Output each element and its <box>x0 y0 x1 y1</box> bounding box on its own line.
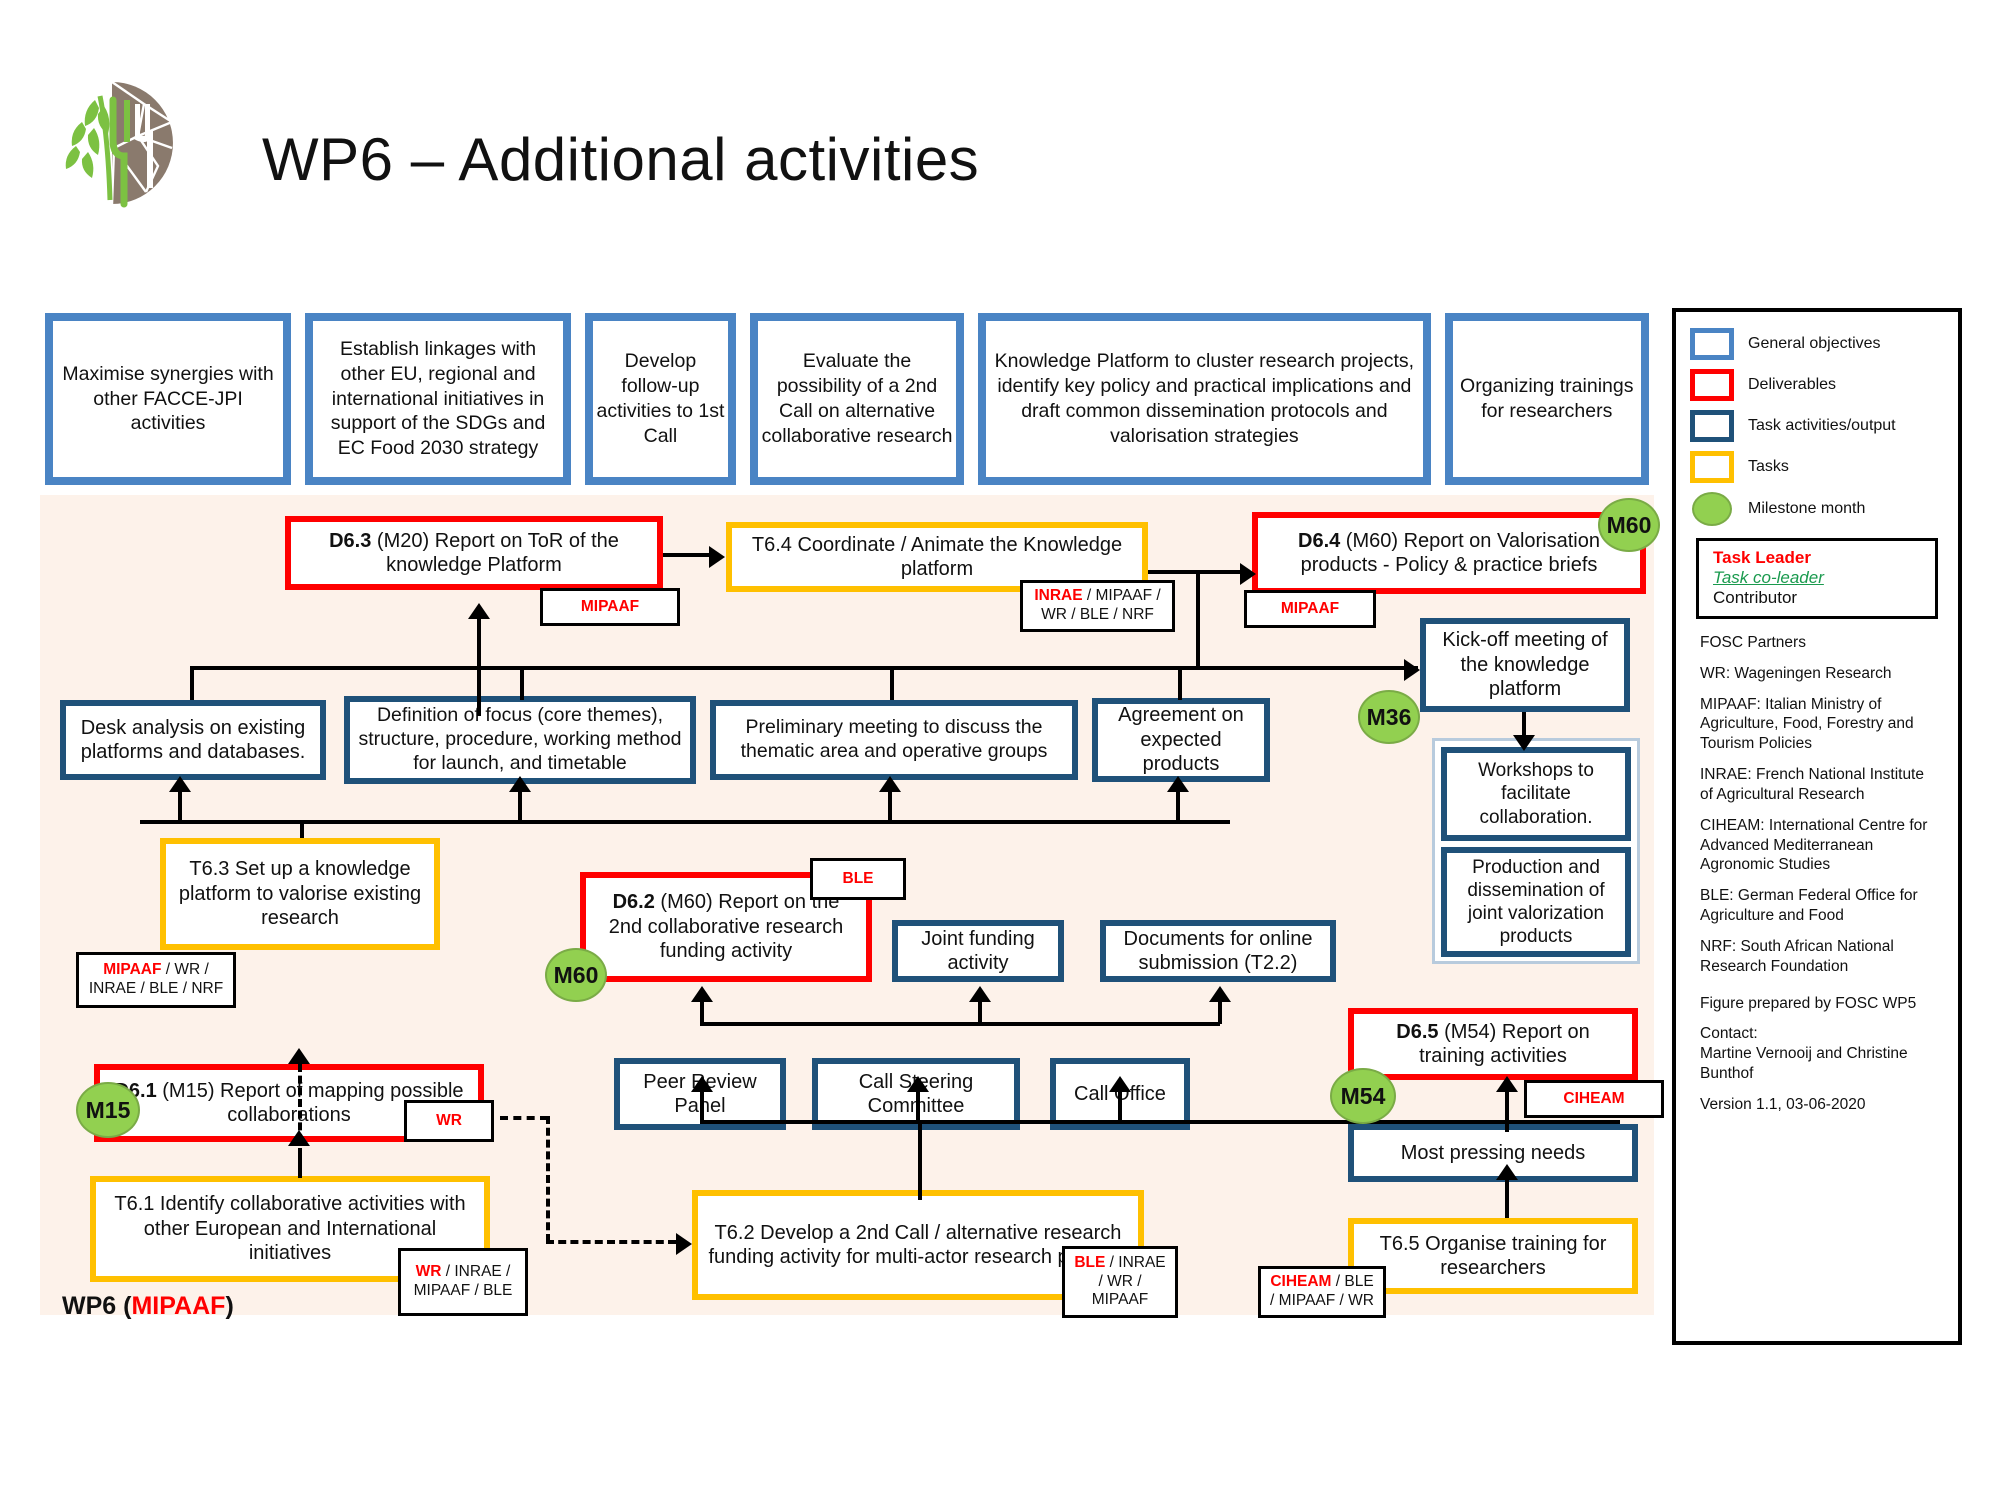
node-kickoff[interactable]: Kick-off meeting of the knowledge platfo… <box>1420 618 1630 712</box>
tag-d61: WR <box>404 1100 494 1142</box>
partners-list: FOSC Partners WR: Wageningen Research MI… <box>1690 633 1944 977</box>
connector-needs-d65 <box>1505 1090 1509 1132</box>
node-most-pressing-needs[interactable]: Most pressing needs <box>1348 1124 1638 1182</box>
diagram-canvas: WP6 – Additional activities Maximise syn… <box>0 0 2000 1500</box>
tag-d63: MIPAAF <box>540 588 680 626</box>
partner-wr: WR: Wageningen Research <box>1700 664 1940 684</box>
arrowhead-bus-definition <box>509 776 531 792</box>
legend-panel: General objectives Deliverables Task act… <box>1672 308 1962 1345</box>
connector-t61-d61 <box>298 1148 302 1178</box>
connector-upper-docs <box>1218 1000 1222 1024</box>
connector-bus-peer <box>700 1090 704 1122</box>
legend-label-objectives: General objectives <box>1748 335 1881 353</box>
legend-row-objectives: General objectives <box>1690 328 1944 360</box>
connector-bus-definition <box>520 666 524 700</box>
arrowhead-bus-d63 <box>468 603 490 619</box>
activities-bus-horizontal <box>190 666 1200 670</box>
tag-d62: BLE <box>810 858 906 900</box>
milestone-m60-mid: M60 <box>545 948 607 1002</box>
legend-swatch-objectives-icon <box>1690 328 1734 360</box>
connector-bus-desk <box>190 666 194 700</box>
tag-t64: INRAE / MIPAAF / WR / BLE / NRF <box>1020 580 1175 632</box>
partner-ciheam: CIHEAM: International Centre for Advance… <box>1700 816 1940 875</box>
tag-d65: CIHEAM <box>1524 1080 1664 1118</box>
facce-jpi-fosc-logo-icon <box>40 70 185 215</box>
milestone-m54: M54 <box>1330 1068 1396 1124</box>
wp6-footer-label: WP6 (MIPAAF) <box>62 1292 234 1321</box>
tag-t61-lead: WR <box>416 1263 442 1280</box>
node-d63[interactable]: D6.3 (M20) Report on ToR of the knowledg… <box>285 516 663 590</box>
tag-d64: MIPAAF <box>1244 590 1376 628</box>
call-bus-upper <box>700 1022 1220 1026</box>
milestone-m15: M15 <box>76 1082 140 1138</box>
connector-t62-up <box>918 1120 922 1200</box>
connector-t64-d64 <box>1148 570 1240 574</box>
node-d64-rest: (M60) Report on Valorisation products - … <box>1301 530 1600 576</box>
legend-swatch-milestone-icon <box>1692 492 1732 526</box>
connector-bus-calloffice <box>1118 1090 1122 1122</box>
tag-t63: MIPAAF / WR / INRAE / BLE / NRF <box>76 952 236 1008</box>
legend-label-deliverables: Deliverables <box>1748 376 1836 394</box>
tag-t63-lead: MIPAAF <box>103 961 161 978</box>
connector-bus-prelim <box>890 666 894 700</box>
role-contributor: Contributor <box>1713 588 1925 608</box>
node-d63-rest: (M20) Report on ToR of the knowledge Pla… <box>371 530 619 576</box>
objective-box-5[interactable]: Knowledge Platform to cluster research p… <box>973 308 1435 490</box>
connector-bus-to-d63 <box>477 668 481 716</box>
connector-d61-to-t62-dashed <box>546 1240 676 1244</box>
arrowhead-t64-d64 <box>1240 563 1256 585</box>
roles-legend-box: Task Leader Task co-leader Contributor <box>1696 538 1938 619</box>
legend-row-milestone: Milestone month <box>1690 492 1944 526</box>
wp6-partner: MIPAAF <box>131 1292 225 1320</box>
tag-d61-lead: WR <box>436 1112 462 1129</box>
milestone-m60-top: M60 <box>1598 498 1660 552</box>
tag-t65-lead: CIHEAM <box>1270 1273 1331 1290</box>
arrowhead-bus-kickoff <box>1404 659 1420 681</box>
connector-bus-up-prelim <box>888 790 892 822</box>
connector-bus-up-desk <box>178 790 182 822</box>
partners-heading: FOSC Partners <box>1700 633 1940 653</box>
connector-bus-to-kickoff <box>1196 666 1418 670</box>
legend-label-tasks: Tasks <box>1748 458 1789 476</box>
arrowhead-bus-calloffice <box>1109 1076 1131 1092</box>
tag-d65-lead: CIHEAM <box>1563 1090 1624 1107</box>
arrowhead-bus-prelim <box>879 776 901 792</box>
node-workshops[interactable]: Workshops to facilitate collaboration. <box>1441 747 1631 841</box>
role-task-coleader: Task co-leader <box>1713 568 1925 588</box>
connector-d61-right-dashed <box>500 1116 548 1120</box>
node-agreement-products[interactable]: Agreement on expected products <box>1092 698 1270 782</box>
node-t65[interactable]: T6.5 Organise training for researchers <box>1348 1218 1638 1294</box>
partner-mipaaf: MIPAAF: Italian Ministry of Agriculture,… <box>1700 695 1940 754</box>
partner-ble: BLE: German Federal Office for Agricultu… <box>1700 886 1940 926</box>
connector-t63-bus <box>300 820 304 838</box>
node-d62-code: D6.2 <box>613 891 655 913</box>
call-bus-horizontal <box>700 1120 1620 1124</box>
objective-box-1[interactable]: Maximise synergies with other FACCE-JPI … <box>40 308 296 490</box>
wp6-prefix: WP6 ( <box>62 1292 131 1320</box>
node-d65[interactable]: D6.5 (M54) Report on training activities <box>1348 1008 1638 1080</box>
arrowhead-d63-t64 <box>709 546 725 568</box>
legend-row-activities: Task activities/output <box>1690 410 1944 442</box>
tag-d62-lead: BLE <box>843 870 874 887</box>
contact-names: Martine Vernooij and Christine Bunthof <box>1700 1045 1908 1082</box>
role-task-leader: Task Leader <box>1713 548 1925 568</box>
objective-box-4[interactable]: Evaluate the possibility of a 2nd Call o… <box>745 308 969 490</box>
connector-d63-t64 <box>663 553 709 557</box>
arrowhead-upper-joint <box>969 986 991 1002</box>
arrowhead-bus-steering <box>907 1076 929 1092</box>
node-d65-code: D6.5 <box>1396 1021 1438 1043</box>
arrowhead-upper-docs <box>1209 986 1231 1002</box>
node-documents-online[interactable]: Documents for online submission (T2.2) <box>1100 920 1336 982</box>
node-production[interactable]: Production and dissemination of joint va… <box>1441 847 1631 957</box>
connector-bus-to-d63-stem <box>477 615 481 670</box>
legend-swatch-deliverables-icon <box>1690 369 1734 401</box>
connector-d61-down-dashed <box>546 1116 550 1242</box>
tag-t61: WR / INRAE / MIPAAF / BLE <box>398 1248 528 1316</box>
prepared-by: Figure prepared by FOSC WP5 <box>1700 994 1940 1014</box>
arrowhead-upper-d62 <box>691 986 713 1002</box>
node-definition-of-focus[interactable]: Definition of focus (core themes), struc… <box>344 696 696 784</box>
partner-nrf: NRF: South African National Research Fou… <box>1700 937 1940 977</box>
node-desk-analysis[interactable]: Desk analysis on existing platforms and … <box>60 700 326 780</box>
connector-bus-steering <box>916 1090 920 1122</box>
wp6-suffix: ) <box>225 1292 233 1320</box>
arrowhead-bus-desk <box>169 776 191 792</box>
node-joint-funding[interactable]: Joint funding activity <box>892 920 1064 982</box>
legend-label-activities: Task activities/output <box>1748 417 1896 435</box>
connector-bus-to-d64 <box>1196 570 1200 670</box>
contact-label: Contact: <box>1700 1025 1758 1042</box>
milestone-m36: M36 <box>1358 690 1420 744</box>
version-text: Version 1.1, 03-06-2020 <box>1700 1095 1940 1115</box>
arrowhead-bus-agreement <box>1167 776 1189 792</box>
node-d63-code: D6.3 <box>329 530 371 552</box>
arrowhead-t65-needs <box>1496 1164 1518 1180</box>
connector-bus-up-definition <box>518 790 522 822</box>
page-title: WP6 – Additional activities <box>262 125 979 194</box>
objective-box-2[interactable]: Establish linkages with other EU, region… <box>300 308 576 490</box>
node-d64[interactable]: D6.4 (M60) Report on Valorisation produc… <box>1252 512 1646 594</box>
node-t63[interactable]: T6.3 Set up a knowledge platform to valo… <box>160 838 440 950</box>
objective-box-6[interactable]: Organizing trainings for researchers <box>1440 308 1654 490</box>
connector-upper-d62 <box>700 1000 704 1024</box>
arrowhead-d61-t63 <box>288 1048 310 1064</box>
partner-inrae: INRAE: French National Institute of Agri… <box>1700 765 1940 805</box>
tag-t65: CIHEAM / BLE / MIPAAF / WR <box>1258 1266 1386 1318</box>
arrowhead-kickoff-workshops <box>1513 735 1535 751</box>
contact-block: Contact: Martine Vernooij and Christine … <box>1700 1024 1940 1083</box>
tag-d63-lead: MIPAAF <box>581 598 639 615</box>
legend-row-deliverables: Deliverables <box>1690 369 1944 401</box>
node-d65-rest: (M54) Report on training activities <box>1419 1021 1590 1067</box>
tag-t62: BLE / INRAE / WR / MIPAAF <box>1062 1246 1178 1318</box>
arrowhead-needs-d65 <box>1496 1076 1518 1092</box>
connector-bus-up-agreement <box>1176 790 1180 822</box>
tag-d64-lead: MIPAAF <box>1281 600 1339 617</box>
figure-metadata: Figure prepared by FOSC WP5 Contact: Mar… <box>1690 988 1944 1115</box>
connector-upper-joint <box>978 1000 982 1024</box>
nested-activities-container: Workshops to facilitate collaboration. P… <box>1432 738 1640 964</box>
tag-t64-lead: INRAE <box>1034 587 1082 604</box>
node-d64-code: D6.4 <box>1298 530 1340 552</box>
objective-box-3[interactable]: Develop follow-up activities to 1st Call <box>580 308 741 490</box>
legend-swatch-tasks-icon <box>1690 451 1734 483</box>
node-preliminary-meeting[interactable]: Preliminary meeting to discuss the thema… <box>710 700 1078 780</box>
legend-row-tasks: Tasks <box>1690 451 1944 483</box>
general-objectives-strip: Maximise synergies with other FACCE-JPI … <box>40 308 1654 490</box>
legend-label-milestone: Milestone month <box>1748 500 1865 518</box>
arrowhead-d61-t62 <box>676 1233 692 1255</box>
legend-swatch-activities-icon <box>1690 410 1734 442</box>
connector-bus-agreement <box>1178 666 1182 700</box>
arrowhead-bus-peer <box>691 1076 713 1092</box>
tag-t62-lead: BLE <box>1074 1254 1105 1271</box>
arrowhead-t61-d61 <box>288 1130 310 1146</box>
connector-t65-needs <box>1505 1180 1509 1218</box>
